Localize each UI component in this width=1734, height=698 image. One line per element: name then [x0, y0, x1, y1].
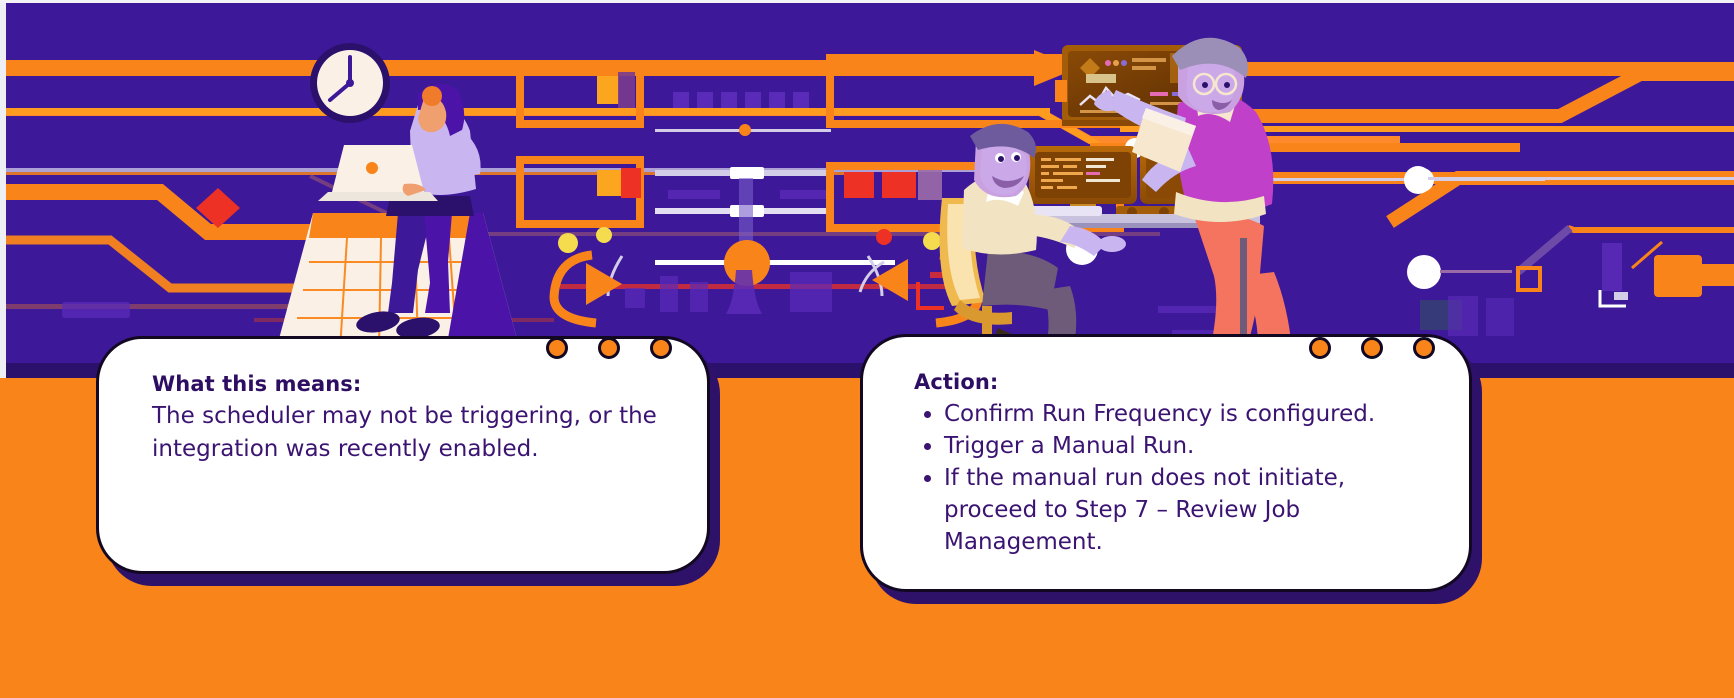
card-body-what-this-means: What this means: The scheduler may not b… — [152, 372, 664, 466]
card-heading-what-this-means: What this means: — [152, 372, 664, 396]
card-action-bullet-list: Confirm Run Frequency is configured. Tri… — [914, 398, 1414, 558]
card-dot — [1309, 337, 1331, 359]
card-heading-action: Action: — [914, 370, 1414, 394]
control-panels-left — [520, 66, 641, 224]
illustration-svg — [0, 0, 1734, 378]
card-dots-left — [546, 337, 672, 359]
card-dot — [1361, 337, 1383, 359]
left-edge-strip — [0, 0, 6, 378]
list-item: Confirm Run Frequency is configured. — [944, 398, 1414, 430]
card-dot — [650, 337, 672, 359]
top-edge-strip — [0, 0, 1734, 3]
card-dot — [1413, 337, 1435, 359]
card-body-action: Action: Confirm Run Frequency is configu… — [914, 370, 1414, 558]
card-paragraph-what-this-means: The scheduler may not be triggering, or … — [152, 400, 664, 466]
list-item: If the manual run does not initiate, pro… — [944, 462, 1414, 558]
list-item: Trigger a Manual Run. — [944, 430, 1414, 462]
card-dots-right — [1309, 337, 1435, 359]
card-dot — [598, 337, 620, 359]
card-dot — [546, 337, 568, 359]
wall-clock-icon — [310, 43, 390, 123]
hero-illustration — [0, 0, 1734, 378]
slide-canvas: What this means: The scheduler may not b… — [0, 0, 1734, 698]
